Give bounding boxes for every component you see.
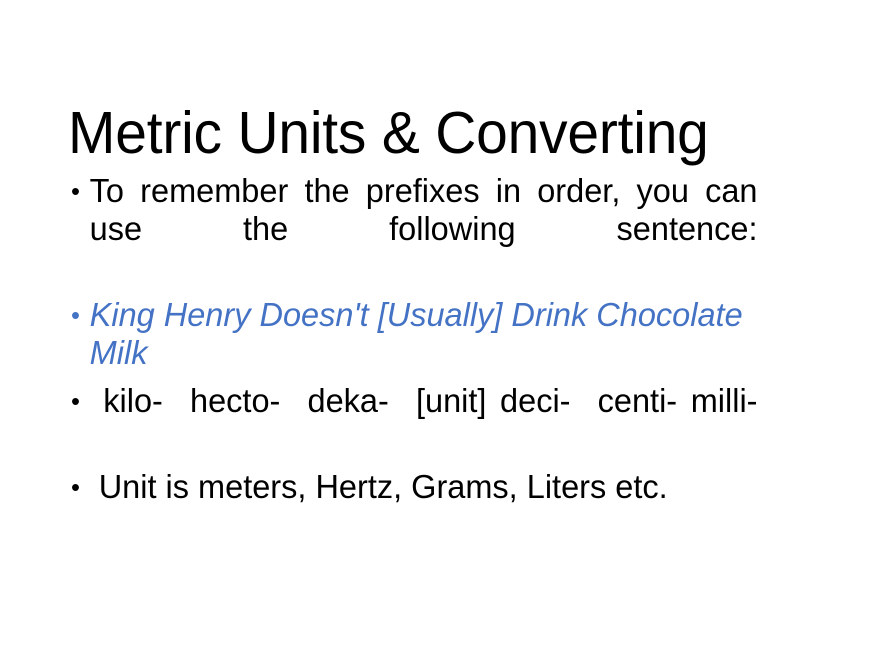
list-item-text: kilo- hecto- deka- [unit] deci- centi- m… — [90, 382, 758, 458]
list-item[interactable]: • To remember the prefixes in order, you… — [68, 172, 758, 286]
bullet-point-icon: • — [71, 172, 85, 210]
list-item-text: King Henry Doesn't [Usually] Drink Choco… — [90, 296, 758, 372]
list-item[interactable]: • kilo- hecto- deka- [unit] deci- centi-… — [68, 382, 758, 458]
bullet-point-icon: • — [71, 296, 85, 334]
list-item-text: Unit is meters, Hertz, Grams, Liters etc… — [90, 468, 758, 506]
page-title: Metric Units & Converting — [68, 98, 801, 168]
list-item-text: To remember the prefixes in order, you c… — [90, 172, 758, 286]
list-item[interactable]: • Unit is meters, Hertz, Grams, Liters e… — [68, 468, 758, 506]
slide-canvas: Metric Units & Converting • To remember … — [0, 0, 880, 660]
list-item[interactable]: • King Henry Doesn't [Usually] Drink Cho… — [68, 296, 758, 372]
bullet-point-icon: • — [71, 382, 85, 420]
bullet-point-icon: • — [71, 468, 85, 506]
bullet-list: • To remember the prefixes in order, you… — [68, 172, 768, 506]
